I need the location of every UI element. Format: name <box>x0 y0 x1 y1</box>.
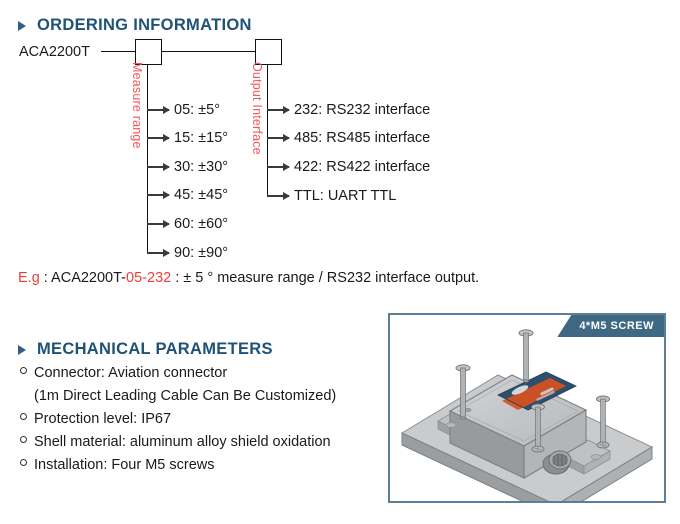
option-label: TTL: UART TTL <box>294 188 396 204</box>
example-code-range: 05 <box>126 270 142 286</box>
arrow-icon <box>147 137 169 138</box>
example-suffix: : ± 5 ° measure range / RS232 interface … <box>171 270 479 286</box>
screw-callout-tag: 4*M5 SCREW <box>557 315 664 337</box>
arrow-icon <box>147 223 169 224</box>
branch-label-measure-range: Measure range <box>130 62 144 149</box>
option-row-measure-5: 90: ±90° <box>147 245 228 261</box>
arrow-icon <box>147 109 169 110</box>
list-item: Connector: Aviation connector <box>20 362 380 385</box>
option-label: 90: ±90° <box>174 245 228 261</box>
circle-bullet-icon <box>20 413 27 420</box>
option-label: 485: RS485 interface <box>294 130 430 146</box>
ordering-code-diagram: ACA2200T Measure range Output Interface … <box>0 0 680 300</box>
arrow-icon <box>147 166 169 167</box>
option-label: 05: ±5° <box>174 102 220 118</box>
option-row-output-0: 232: RS232 interface <box>267 102 430 118</box>
circle-bullet-icon <box>20 459 27 466</box>
list-item-label: Connector: Aviation connector <box>34 362 227 385</box>
arrow-icon <box>267 137 289 138</box>
list-item-label: Installation: Four M5 screws <box>34 454 215 477</box>
arrow-icon <box>267 166 289 167</box>
option-row-measure-4: 60: ±60° <box>147 216 228 232</box>
mechanical-parameters-heading: MECHANICAL PARAMETERS <box>18 340 273 359</box>
mechanical-parameters-title: MECHANICAL PARAMETERS <box>37 340 273 359</box>
option-label: 60: ±60° <box>174 216 228 232</box>
list-item: (1m Direct Leading Cable Can Be Customiz… <box>20 385 380 408</box>
model-number-label: ACA2200T <box>19 44 90 60</box>
product-image-panel: 4*M5 SCREW <box>388 313 666 503</box>
list-item: Installation: Four M5 screws <box>20 454 380 477</box>
option-label: 422: RS422 interface <box>294 159 430 175</box>
option-row-measure-1: 15: ±15° <box>147 130 228 146</box>
list-item-label: Shell material: aluminum alloy shield ox… <box>34 431 331 454</box>
option-row-output-1: 485: RS485 interface <box>267 130 430 146</box>
list-item: Shell material: aluminum alloy shield ox… <box>20 431 380 454</box>
connector-line-between-boxes <box>161 51 256 52</box>
option-row-output-3: TTL: UART TTL <box>267 188 396 204</box>
arrow-icon <box>267 109 289 110</box>
option-label: 30: ±30° <box>174 159 228 175</box>
mechanical-parameters-list: Connector: Aviation connector (1m Direct… <box>20 362 380 477</box>
arrow-icon <box>147 252 169 253</box>
list-item-label: Protection level: IP67 <box>34 408 171 431</box>
option-row-measure-0: 05: ±5° <box>147 102 220 118</box>
option-row-measure-3: 45: ±45° <box>147 187 228 203</box>
option-label: 15: ±15° <box>174 130 228 146</box>
triangle-bullet-icon <box>18 345 26 355</box>
option-row-output-2: 422: RS422 interface <box>267 159 430 175</box>
circle-bullet-icon <box>20 367 27 374</box>
example-order-code-line: E.g : ACA2200T-05-232 : ± 5 ° measure ra… <box>18 270 479 286</box>
arrow-icon <box>147 194 169 195</box>
arrow-icon <box>267 195 289 196</box>
list-item: Protection level: IP67 <box>20 408 380 431</box>
circle-bullet-icon <box>20 436 27 443</box>
example-sep: : ACA2200T- <box>40 270 126 286</box>
option-label: 45: ±45° <box>174 187 228 203</box>
example-code-interface: 232 <box>147 270 171 286</box>
connector-line-model <box>101 51 136 52</box>
list-item-label: (1m Direct Leading Cable Can Be Customiz… <box>34 385 336 408</box>
branch-label-output-interface: Output Interface <box>250 62 264 155</box>
product-illustration <box>390 315 664 501</box>
option-label: 232: RS232 interface <box>294 102 430 118</box>
example-prefix: E.g <box>18 270 40 286</box>
option-row-measure-2: 30: ±30° <box>147 159 228 175</box>
